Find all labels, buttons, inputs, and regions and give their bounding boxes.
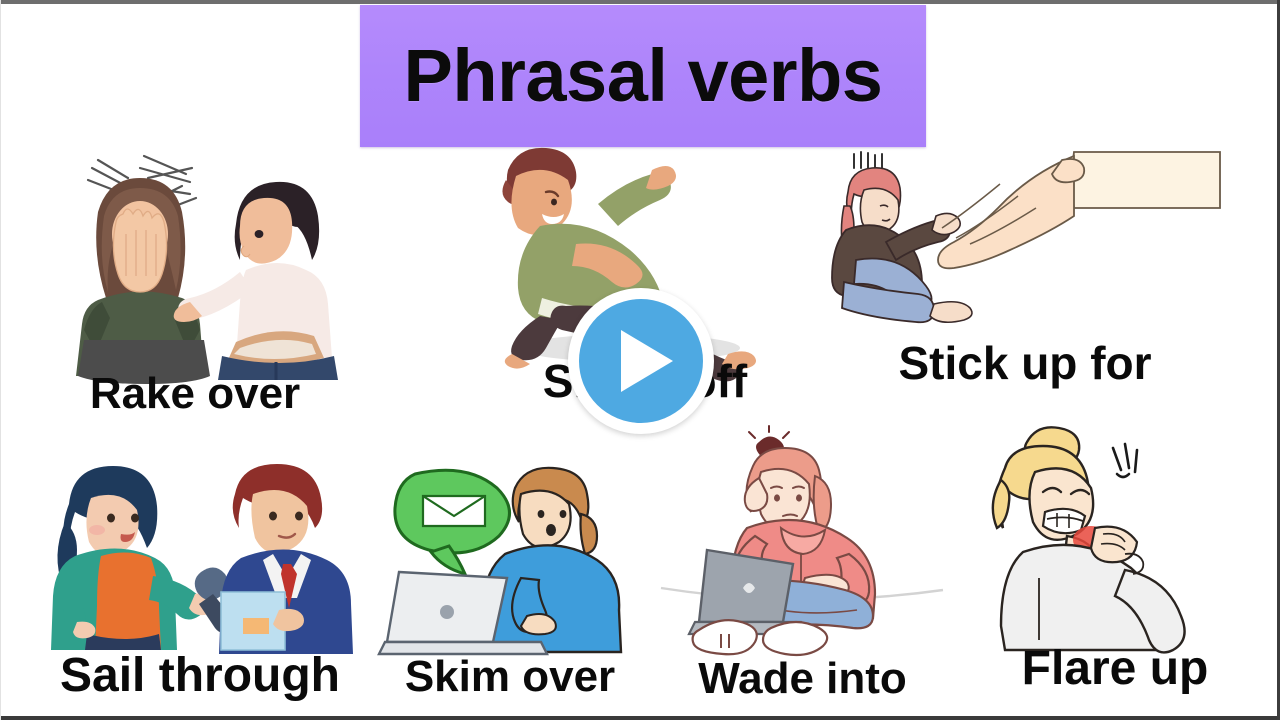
card-caption: Sail through	[35, 652, 365, 700]
woman-holding-painful-neck-icon	[965, 420, 1265, 650]
card-rake-over: Rake over	[40, 150, 350, 420]
bottom-letterbox-bar	[0, 716, 1280, 720]
card-flare-up: Flare up	[965, 420, 1265, 715]
woman-at-laptop-with-email-bubble-icon	[375, 460, 645, 660]
page-title: Phrasal verbs	[404, 39, 883, 113]
play-button-circle	[579, 299, 703, 423]
left-border	[0, 0, 1, 720]
woman-interviewing-man-with-microphone-icon	[35, 452, 365, 657]
two-women-one-crying-comforted-icon	[40, 150, 350, 380]
card-caption: Rake over	[40, 372, 350, 416]
card-caption: Stick up for	[830, 340, 1220, 386]
card-sail-through: Sail through	[35, 452, 365, 714]
card-caption: Wade into	[655, 657, 950, 701]
card-skim-over: Skim over	[375, 460, 645, 715]
top-letterbox-bar	[0, 0, 1280, 4]
card-caption: Flare up	[965, 645, 1265, 693]
woman-sitting-cross-legged-with-laptop-icon	[655, 432, 950, 662]
video-thumbnail-canvas: Phrasal verbs	[0, 0, 1280, 720]
title-banner: Phrasal verbs	[360, 5, 926, 147]
card-wade-into: Wade into	[655, 432, 950, 717]
card-caption: Skim over	[375, 655, 645, 699]
play-triangle-icon	[621, 330, 673, 392]
play-button[interactable]	[568, 288, 714, 434]
card-stick-up-for: Stick up for	[830, 150, 1220, 405]
sad-girl-reaching-for-helping-hand-icon	[830, 150, 1220, 350]
